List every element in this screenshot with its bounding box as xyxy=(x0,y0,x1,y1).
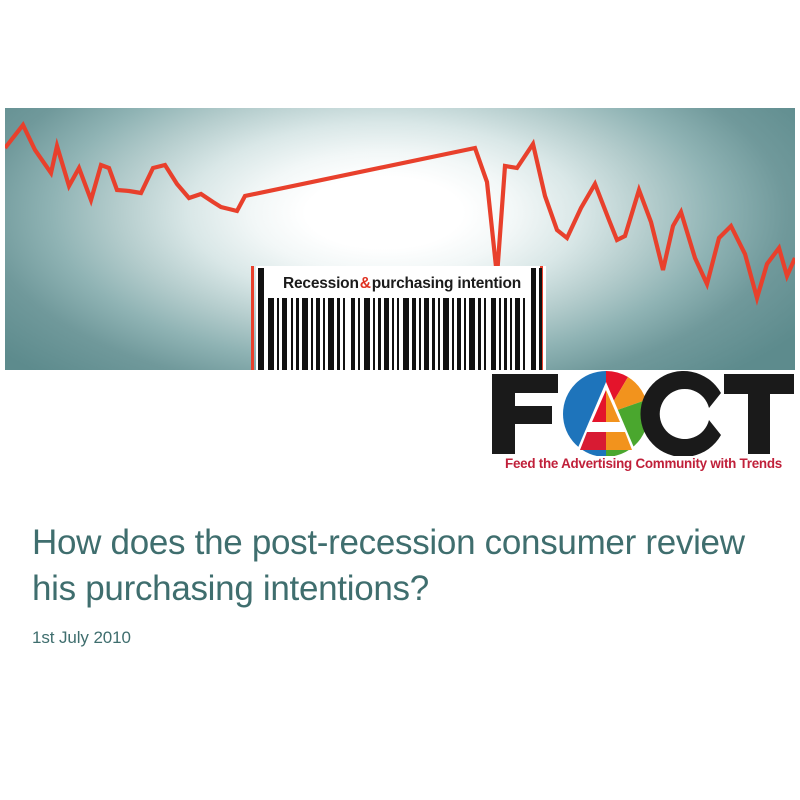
barcode-graphic: Recession & purchasing intention xyxy=(248,266,553,370)
logo-letter-t xyxy=(724,374,794,454)
barcode-label-part-1: Recession xyxy=(283,276,359,292)
logo-letter-c xyxy=(640,371,721,456)
logo-letter-a-pie xyxy=(563,371,648,456)
fact-logo: Feed the Advertising Community with Tren… xyxy=(488,370,796,480)
hero-banner: Recession & purchasing intention xyxy=(5,108,795,370)
fact-wordmark xyxy=(488,370,796,456)
barcode-label: Recession & purchasing intention xyxy=(268,272,536,296)
slide-root: Recession & purchasing intention xyxy=(0,0,800,800)
page-title: How does the post-recession consumer rev… xyxy=(32,520,762,612)
barcode-label-ampersand: & xyxy=(359,276,372,292)
barcode-label-part-2: purchasing intention xyxy=(372,276,521,292)
slide-date: 1st July 2010 xyxy=(32,628,762,648)
title-block: How does the post-recession consumer rev… xyxy=(32,520,762,648)
logo-letter-f xyxy=(492,374,558,454)
barcode-guard-left xyxy=(251,266,254,370)
logo-tagline: Feed the Advertising Community with Tren… xyxy=(491,456,796,471)
